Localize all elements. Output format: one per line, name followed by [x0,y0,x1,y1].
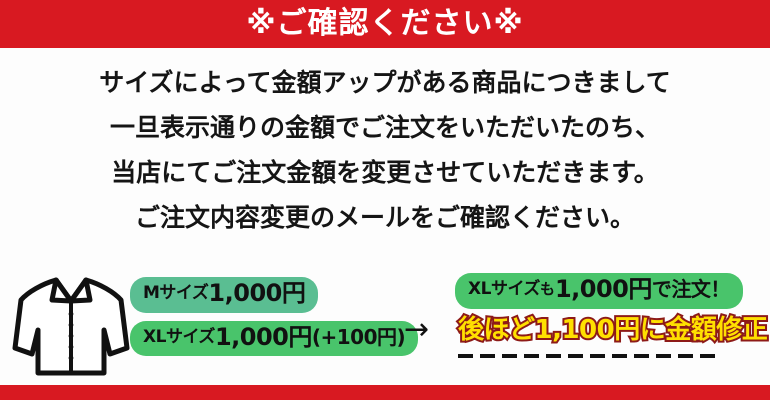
banner-header: ※ご確認ください※ [0,0,770,48]
notice-body: サイズによって金額アップがある商品につきまして 一旦表示通りの金額でご注文をいた… [0,60,770,240]
dash-segment [502,354,517,358]
dash-segment [480,354,495,358]
notice-banner: ※ご確認ください※ サイズによって金額アップがある商品につきまして 一旦表示通り… [0,0,770,400]
after-price-group: XLサイズ も 1,000円 で注文！ 後ほど1,100円に金額修正 [455,273,770,358]
dash-segment [700,354,715,358]
dash-segment [612,354,627,358]
footer-bar [0,385,770,400]
before-price-group: Mサイズ 1,000円 XLサイズ 1,000円 (+100円) [130,277,418,356]
price-pill-order: XLサイズ も 1,000円 で注文！ [455,273,743,309]
notice-line-1: サイズによって金額アップがある商品につきまして [99,60,671,105]
price-comparison-row: Mサイズ 1,000円 XLサイズ 1,000円 (+100円) → XLサイズ… [0,265,770,380]
dress-shirt-icon [12,270,130,378]
price-pill-order-size: XLサイズ [468,280,540,300]
dash-segment [524,354,539,358]
dashed-underline [458,354,715,358]
dash-segment [634,354,649,358]
price-pill-m-amount: 1,000円 [208,280,305,308]
notice-line-4: ご注文内容変更のメールをご確認ください。 [135,195,635,240]
dash-segment [458,354,473,358]
price-pill-m: Mサイズ 1,000円 [130,277,318,313]
notice-line-3: 当店にてご注文金額を変更させていただきます。 [111,150,659,195]
dash-segment [546,354,561,358]
header-title: ※ご確認ください※ [246,9,523,39]
dash-segment [656,354,671,358]
notice-line-2: 一旦表示通りの金額でご注文をいただいたのち、 [110,105,660,150]
dash-segment [590,354,605,358]
dash-segment [678,354,693,358]
price-correction-text: 後ほど1,100円に金額修正 [455,315,770,346]
price-pill-order-amount: 1,000円 [555,276,652,304]
price-pill-m-size: Mサイズ [143,284,208,304]
right-arrow-icon: → [404,315,429,345]
price-pill-xl-size: XLサイズ [143,328,215,348]
price-pill-order-tail: で注文！ [652,278,730,301]
price-pill-order-particle: も [540,281,555,298]
dash-segment [568,354,583,358]
price-pill-xl-suffix: (+100円) [312,326,405,349]
price-pill-xl-amount: 1,000円 [215,324,312,352]
price-pill-xl: XLサイズ 1,000円 (+100円) [130,321,418,357]
